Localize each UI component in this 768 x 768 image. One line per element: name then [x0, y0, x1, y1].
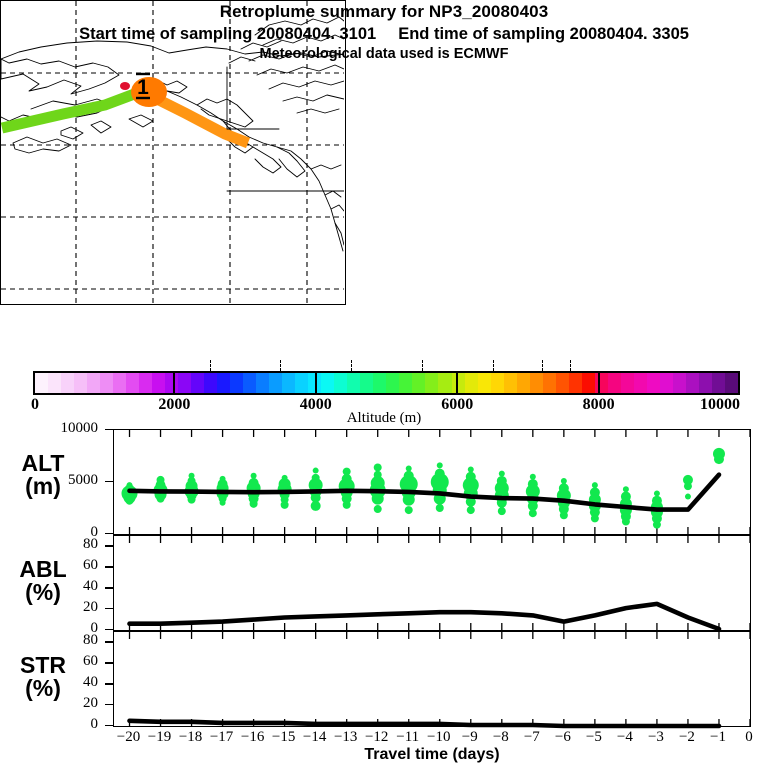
- abl-x-ticks: [130, 536, 750, 630]
- colorbar-swatch-29: [412, 373, 425, 393]
- colorbar-minor-tick: [422, 360, 423, 371]
- met-data-label: Meteorological data used is ECMWF: [0, 46, 768, 62]
- colorbar-swatch-26: [373, 373, 386, 393]
- sampling-time-line: Start time of sampling 20080404. 3101 En…: [0, 25, 768, 44]
- y-tick-mark: [105, 662, 113, 663]
- page-title: Retroplume summary for NP3_20080403: [0, 2, 768, 22]
- colorbar-swatch-4: [87, 373, 100, 393]
- colorbar-swatch-37: [517, 373, 530, 393]
- x-tick-label--10: −10: [427, 729, 450, 746]
- abl-fraction-line: [130, 604, 720, 629]
- y-tick-mark: [105, 608, 113, 609]
- x-tick-label--19: −19: [148, 729, 171, 746]
- colorbar-swatch-33: [465, 373, 478, 393]
- x-tick-label--16: −16: [241, 729, 264, 746]
- y-tick-mark: [105, 683, 113, 684]
- colorbar-separator: [173, 371, 175, 395]
- colorbar-swatch-49: [673, 373, 686, 393]
- colorbar-swatch-11: [178, 373, 191, 393]
- map-release-markers: 1: [136, 74, 150, 99]
- colorbar-minor-tick: [542, 360, 543, 371]
- colorbar-swatch-48: [660, 373, 673, 393]
- x-tick-label--8: −8: [493, 729, 509, 746]
- alt-panel[interactable]: [113, 429, 751, 535]
- colorbar-swatch-2: [61, 373, 74, 393]
- colorbar-swatch-40: [556, 373, 569, 393]
- colorbar-minor-tick: [570, 360, 571, 371]
- abl-panel[interactable]: [113, 535, 751, 631]
- colorbar-separator: [456, 371, 458, 395]
- colorbar-swatch-15: [230, 373, 243, 393]
- colorbar-swatch-1: [48, 373, 61, 393]
- x-tick-label--11: −11: [396, 729, 419, 746]
- colorbar-minor-tick: [210, 360, 211, 371]
- str-x-ticks: [130, 632, 750, 726]
- colorbar-minor-tick: [351, 360, 352, 371]
- colorbar-swatch-9: [152, 373, 165, 393]
- inset-box: [227, 67, 279, 129]
- x-tick-label--18: −18: [179, 729, 202, 746]
- x-tick-label--3: −3: [648, 729, 664, 746]
- x-tick-label--20: −20: [117, 729, 140, 746]
- y-tick-mark: [105, 629, 113, 630]
- x-tick-label--13: −13: [334, 729, 357, 746]
- colorbar-swatch-46: [634, 373, 647, 393]
- x-tick-label-0: 0: [745, 729, 753, 746]
- str-fraction-line: [130, 721, 720, 726]
- x-tick-label--5: −5: [586, 729, 602, 746]
- colorbar-swatch-23: [334, 373, 347, 393]
- y-tick-mark: [105, 566, 113, 567]
- colorbar-swatch-34: [478, 373, 491, 393]
- colorbar-swatch-5: [100, 373, 113, 393]
- colorbar-title: Altitude (m): [0, 410, 768, 427]
- colorbar-swatch-16: [243, 373, 256, 393]
- x-tick-label--17: −17: [210, 729, 233, 746]
- y-tick-mark: [105, 533, 113, 534]
- x-tick-label--15: −15: [272, 729, 295, 746]
- colorbar-swatch-52: [712, 373, 725, 393]
- alt-plot: [114, 430, 750, 534]
- colorbar-swatch-53: [725, 373, 738, 393]
- colorbar-swatch-3: [74, 373, 87, 393]
- colorbar-swatch-50: [686, 373, 699, 393]
- abl-plot: [114, 536, 750, 630]
- colorbar-swatch-39: [543, 373, 556, 393]
- colorbar-swatch-28: [399, 373, 412, 393]
- abl-axis-label: ABL (%): [4, 558, 82, 605]
- colorbar-swatch-24: [347, 373, 360, 393]
- x-tick-label--12: −12: [365, 729, 388, 746]
- y-tick-mark: [105, 641, 113, 642]
- colorbar-swatch-35: [491, 373, 504, 393]
- colorbar-swatch-45: [621, 373, 634, 393]
- colorbar-separator: [598, 371, 600, 395]
- colorbar-swatch-18: [269, 373, 282, 393]
- colorbar-swatch-17: [256, 373, 269, 393]
- colorbar-swatch-8: [139, 373, 152, 393]
- str-axis-label: STR (%): [4, 654, 82, 701]
- colorbar-swatch-27: [386, 373, 399, 393]
- x-tick-label--14: −14: [303, 729, 326, 746]
- colorbar-swatch-10: [165, 373, 178, 393]
- x-tick-label--1: −1: [710, 729, 726, 746]
- y-tick-mark: [105, 725, 113, 726]
- x-tick-label--2: −2: [679, 729, 695, 746]
- colorbar-swatch-7: [126, 373, 139, 393]
- x-tick-label--6: −6: [555, 729, 571, 746]
- colorbar-swatch-14: [217, 373, 230, 393]
- colorbar-minor-tick: [493, 360, 494, 371]
- x-axis-title: Travel time (days): [113, 746, 751, 764]
- colorbar-swatch-47: [647, 373, 660, 393]
- y-tick-mark: [105, 545, 113, 546]
- colorbar-swatch-30: [425, 373, 438, 393]
- colorbar-swatch-13: [204, 373, 217, 393]
- colorbar-swatch-25: [360, 373, 373, 393]
- colorbar-swatch-42: [582, 373, 595, 393]
- y-tick-mark: [105, 429, 113, 430]
- colorbar-swatch-36: [504, 373, 517, 393]
- svg-text:1: 1: [137, 76, 149, 99]
- x-tick-label--9: −9: [462, 729, 478, 746]
- colorbar-swatch-31: [438, 373, 451, 393]
- colorbar-swatch-12: [191, 373, 204, 393]
- colorbar-swatch-44: [608, 373, 621, 393]
- str-plot: [114, 632, 750, 726]
- y-tick-mark: [105, 587, 113, 588]
- colorbar-swatch-51: [699, 373, 712, 393]
- colorbar-separator: [315, 371, 317, 395]
- colorbar-swatch-19: [282, 373, 295, 393]
- str-panel[interactable]: [113, 631, 751, 727]
- colorbar-swatch-20: [295, 373, 308, 393]
- colorbar-swatch-0: [35, 373, 48, 393]
- colorbar-minor-tick: [280, 360, 281, 371]
- altitude-colorbar[interactable]: [33, 371, 740, 395]
- y-tick-mark: [105, 704, 113, 705]
- end-time-label: End time of sampling 20080404. 3305: [398, 25, 689, 44]
- colorbar-swatch-41: [569, 373, 582, 393]
- x-tick-label--4: −4: [617, 729, 633, 746]
- x-tick-label--7: −7: [524, 729, 540, 746]
- alt-scatter-points: [122, 448, 725, 529]
- colorbar-swatch-22: [321, 373, 334, 393]
- start-time-label: Start time of sampling 20080404. 3101: [79, 25, 376, 44]
- colorbar-gradient: [33, 371, 740, 395]
- colorbar-swatch-38: [530, 373, 543, 393]
- colorbar-swatch-6: [113, 373, 126, 393]
- y-tick-mark: [105, 481, 113, 482]
- map-trajectories: [2, 91, 248, 143]
